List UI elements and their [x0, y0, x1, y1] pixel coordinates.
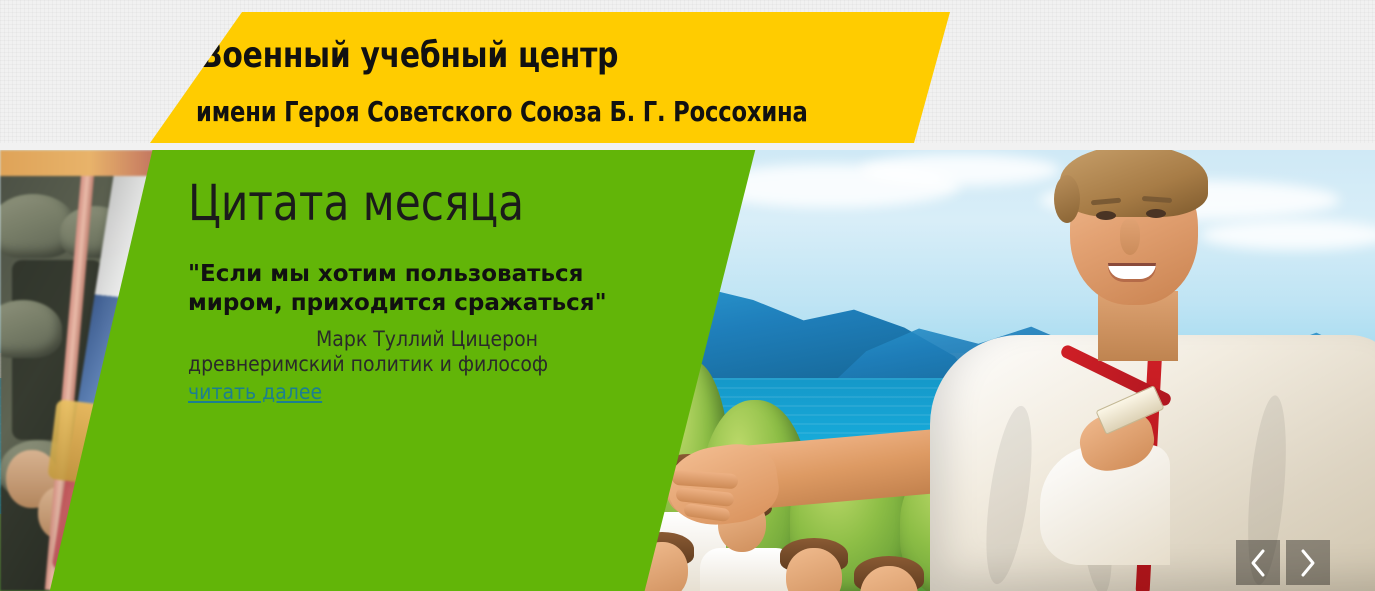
hair — [1060, 150, 1208, 217]
slider-navigation — [1236, 540, 1330, 585]
eye — [1146, 209, 1166, 218]
quote-text: "Если мы хотим пользоваться миром, прихо… — [188, 260, 618, 319]
page-root: Цитата месяца "Если мы хотим пользоватьс… — [0, 0, 1375, 591]
hero-slider[interactable]: Цитата месяца "Если мы хотим пользоватьс… — [0, 150, 1375, 591]
site-title-secondary: имени Героя Советского Союза Б. Г. Россо… — [196, 95, 808, 128]
slider-prev-button[interactable] — [1236, 540, 1280, 585]
read-more-link[interactable]: читать далее — [188, 380, 322, 404]
quote-author: Марк Туллий Цицерон — [188, 327, 538, 351]
quote-author-role: древнеримский политик и философ — [188, 351, 658, 378]
eye — [1096, 211, 1116, 220]
slider-next-button[interactable] — [1286, 540, 1330, 585]
quote-heading: Цитата месяца — [188, 178, 630, 228]
cicero-figure — [930, 150, 1375, 591]
site-title-banner: Военный учебный центр имени Героя Советс… — [150, 12, 950, 143]
nose — [1120, 219, 1140, 255]
quote-content: Цитата месяца "Если мы хотим пользоватьс… — [188, 178, 658, 404]
banner-seam — [0, 143, 1375, 150]
chevron-left-icon — [1248, 548, 1268, 578]
site-title-primary: Военный учебный центр — [200, 35, 618, 76]
chevron-right-icon — [1298, 548, 1318, 578]
